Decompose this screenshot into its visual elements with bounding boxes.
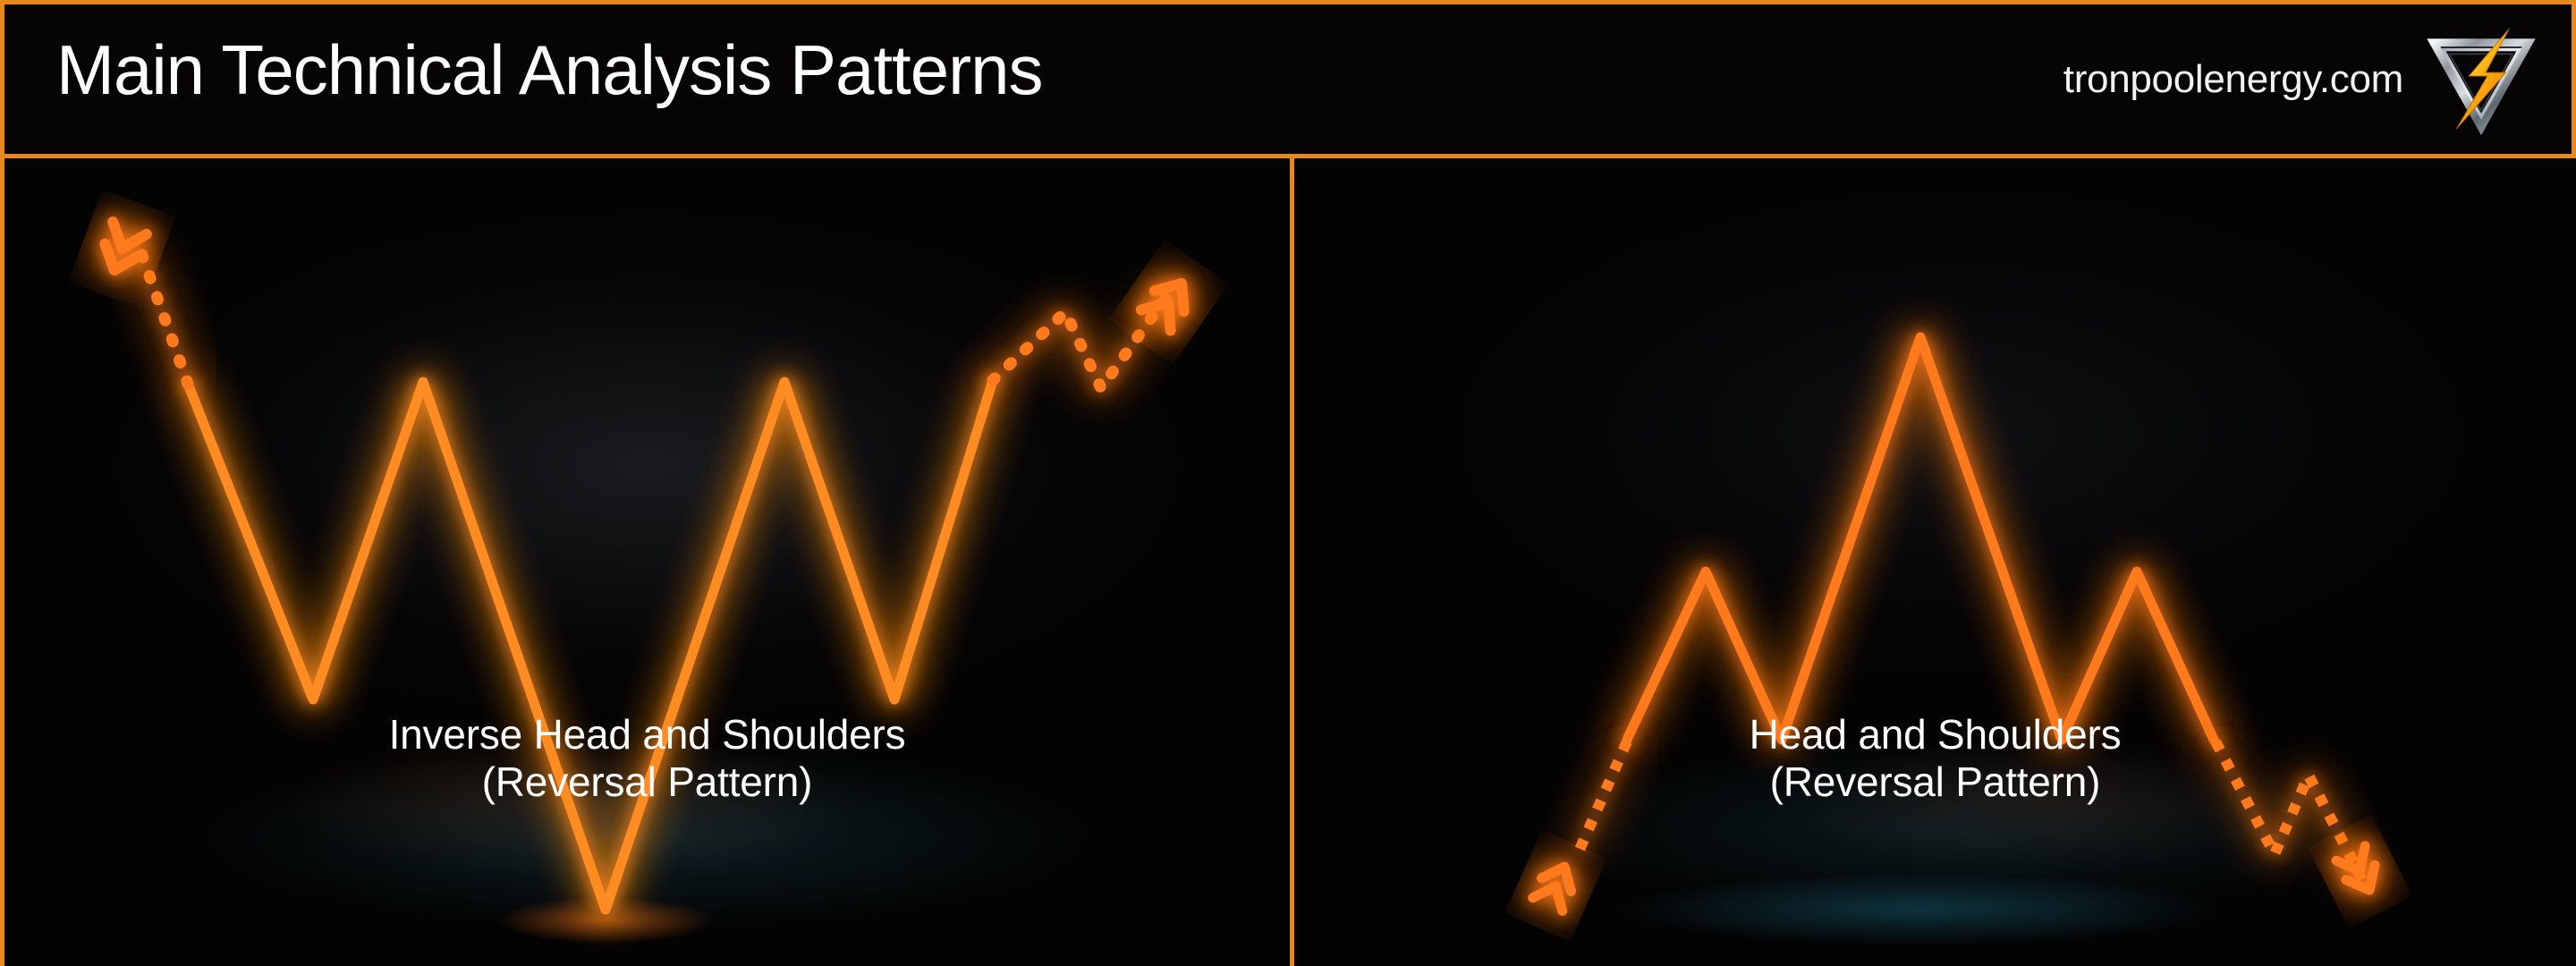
caption-head-and-shoulders: Head and Shoulders (Reversal Pattern) <box>1294 711 2576 806</box>
infographic-root: Main Technical Analysis Patterns tronpoo… <box>0 0 2576 966</box>
caption-line-1: Inverse Head and Shoulders <box>389 711 906 758</box>
price-polyline <box>1627 337 2214 740</box>
entry-dotted-trail <box>140 250 188 384</box>
exit-arrow-double-chevron-down-right-icon <box>2336 846 2384 897</box>
caption-inverse-head-and-shoulders: Inverse Head and Shoulders (Reversal Pat… <box>4 711 1290 806</box>
caption-line-2: (Reversal Pattern) <box>4 758 1290 806</box>
page-title: Main Technical Analysis Patterns <box>56 30 1042 111</box>
chart-head-and-shoulders <box>1294 158 2576 966</box>
lightning-triangle-logo-icon <box>2425 23 2538 136</box>
entry-arrow-double-chevron-down-left-icon <box>97 222 147 276</box>
header-bar: Main Technical Analysis Patterns tronpoo… <box>4 4 2572 158</box>
chart-inverse-head-and-shoulders <box>4 158 1290 966</box>
caption-line-2: (Reversal Pattern) <box>1294 758 2576 806</box>
panel-head-and-shoulders: Head and Shoulders (Reversal Pattern) <box>1294 158 2576 966</box>
entry-arrow-double-chevron-up-right-icon <box>1533 860 1580 911</box>
floor-glow <box>1616 874 2224 945</box>
caption-line-1: Head and Shoulders <box>1750 711 2122 758</box>
brand-domain-text: tronpoolenergy.com <box>2063 57 2403 102</box>
brand-block: tronpoolenergy.com <box>2063 17 2538 142</box>
price-polyline <box>188 380 993 910</box>
panel-inverse-head-and-shoulders: Inverse Head and Shoulders (Reversal Pat… <box>4 158 1290 966</box>
